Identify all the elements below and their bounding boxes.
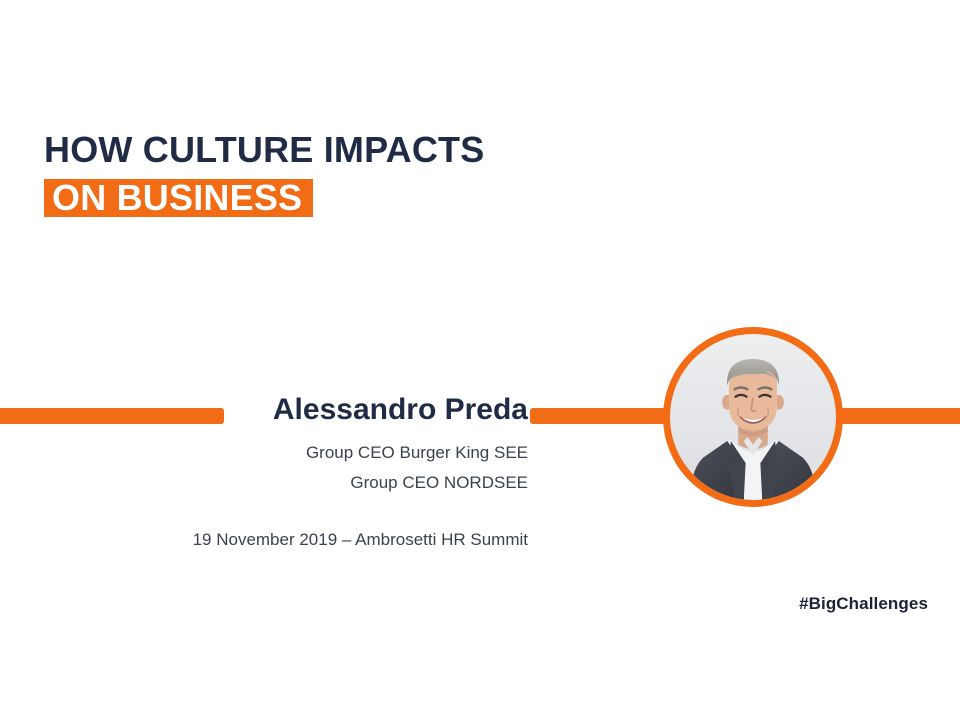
orange-rule-middle <box>530 408 670 424</box>
portrait-photo <box>670 334 836 500</box>
hashtag-label: #BigChallenges <box>799 594 928 614</box>
speaker-role-secondary: Group CEO NORDSEE <box>60 468 528 498</box>
title-block: HOW CULTURE IMPACTS ON BUSINESS <box>44 128 644 217</box>
event-date-and-name: 19 November 2019 – Ambrosetti HR Summit <box>60 528 528 552</box>
page-title-line-2-highlighted: ON BUSINESS <box>44 179 313 217</box>
orange-rule-right <box>836 408 960 424</box>
speaker-block: Alessandro Preda Group CEO Burger King S… <box>60 392 528 498</box>
avatar <box>663 327 843 507</box>
speaker-name: Alessandro Preda <box>60 392 528 428</box>
speaker-role-primary: Group CEO Burger King SEE <box>60 438 528 468</box>
title-highlight-wrapper: ON BUSINESS <box>44 179 644 217</box>
presentation-slide: HOW CULTURE IMPACTS ON BUSINESS Alessand… <box>0 0 960 720</box>
page-title-line-1: HOW CULTURE IMPACTS <box>44 128 644 172</box>
